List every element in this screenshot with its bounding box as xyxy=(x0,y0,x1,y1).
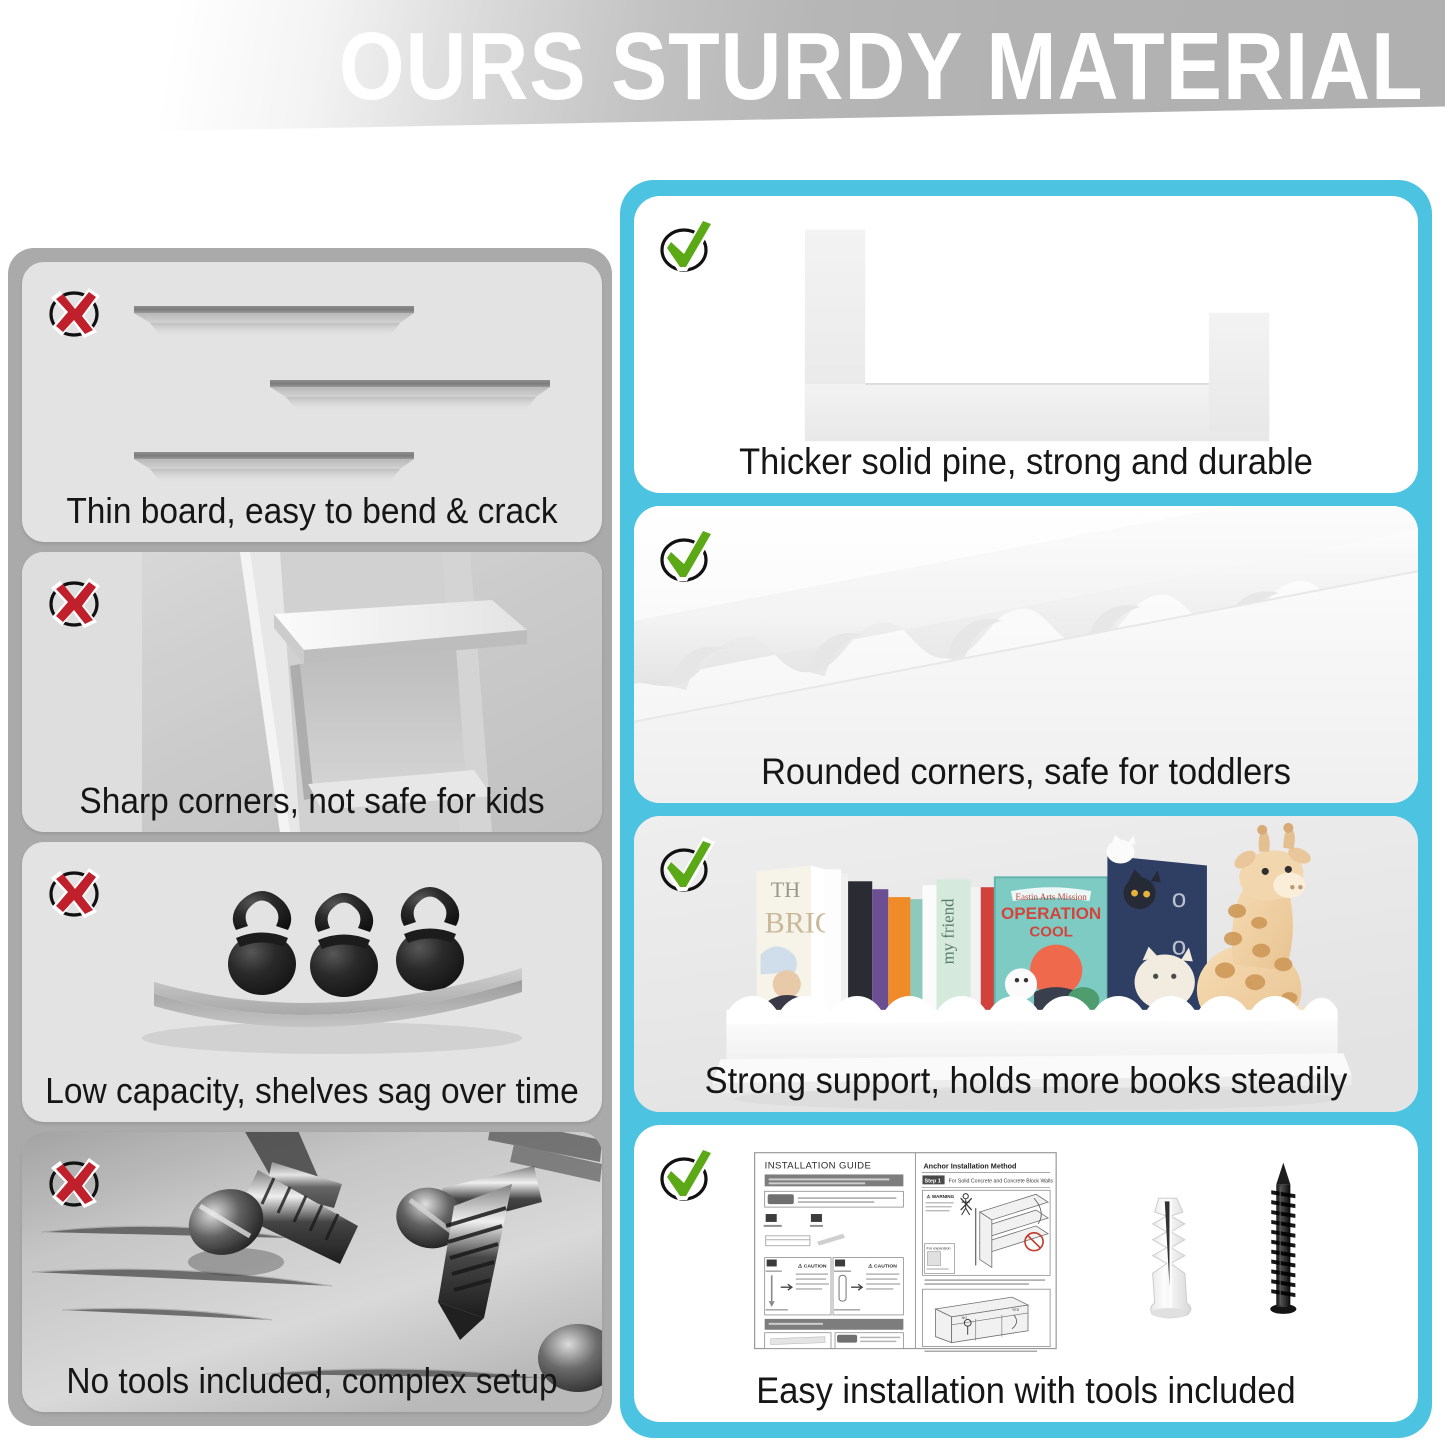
svg-text:COOL: COOL xyxy=(1029,923,1073,940)
svg-text:NO: NO xyxy=(962,1316,968,1320)
con-caption: Thin board, easy to bend & crack xyxy=(42,489,581,533)
red-x-icon xyxy=(44,280,108,342)
pros-panel: Thicker solid pine, strong and durable xyxy=(620,180,1432,1438)
svg-text:my friend: my friend xyxy=(939,898,958,964)
header-banner: OURS STURDY MATERIAL xyxy=(0,0,1445,146)
con-card-low-capacity: Low capacity, shelves sag over time xyxy=(22,842,602,1122)
green-check-icon xyxy=(656,524,720,586)
svg-text:For expansion: For expansion xyxy=(926,1247,950,1251)
pro-caption: Strong support, holds more books steadil… xyxy=(661,1059,1390,1103)
svg-text:YES: YES xyxy=(1012,1308,1020,1312)
pro-card-strong-support: TH BRIG xyxy=(634,816,1418,1113)
svg-text:⚠ WARNING: ⚠ WARNING xyxy=(926,1194,954,1199)
svg-text:⚠ CAUTION: ⚠ CAUTION xyxy=(798,1264,827,1270)
page-title: OURS STURDY MATERIAL xyxy=(338,8,1423,126)
svg-text:OPERATION: OPERATION xyxy=(1001,903,1101,922)
svg-text:Eastin Arts Mission: Eastin Arts Mission xyxy=(1015,892,1087,902)
pro-caption: Thicker solid pine, strong and durable xyxy=(661,440,1390,484)
cons-panel: Thin board, easy to bend & crack xyxy=(8,248,612,1426)
con-caption: Low capacity, shelves sag over time xyxy=(42,1069,581,1113)
install-guide-title: INSTALLATION GUIDE xyxy=(765,1161,872,1172)
con-caption: No tools included, complex setup xyxy=(42,1359,581,1403)
green-check-icon xyxy=(656,1143,720,1205)
pro-caption: Rounded corners, safe for toddlers xyxy=(661,750,1390,794)
svg-text:⚠ CAUTION: ⚠ CAUTION xyxy=(868,1264,897,1270)
red-x-icon xyxy=(44,860,108,922)
svg-text:For Solid Concrete and Concret: For Solid Concrete and Concrete Block Wa… xyxy=(949,1179,1054,1185)
red-x-icon xyxy=(44,570,108,632)
pro-card-thicker-pine: Thicker solid pine, strong and durable xyxy=(634,196,1418,493)
svg-text:Anchor Installation Method: Anchor Installation Method xyxy=(923,1163,1016,1171)
con-card-sharp-corners: Sharp corners, not safe for kids xyxy=(22,552,602,832)
con-card-thin-board: Thin board, easy to bend & crack xyxy=(22,262,602,542)
pro-card-easy-installation: INSTALLATION GUIDE xyxy=(634,1125,1418,1422)
svg-text:Step 1: Step 1 xyxy=(924,1179,940,1185)
con-card-no-tools: No tools included, complex setup xyxy=(22,1132,602,1412)
green-check-icon xyxy=(656,214,720,276)
pro-card-rounded-corners: Rounded corners, safe for toddlers xyxy=(634,506,1418,803)
svg-text:o: o xyxy=(1172,885,1187,913)
green-check-icon xyxy=(656,834,720,896)
con-caption: Sharp corners, not safe for kids xyxy=(42,779,581,823)
red-x-icon xyxy=(44,1150,108,1212)
svg-text:TH: TH xyxy=(771,877,801,902)
pro-caption: Easy installation with tools included xyxy=(661,1369,1390,1413)
